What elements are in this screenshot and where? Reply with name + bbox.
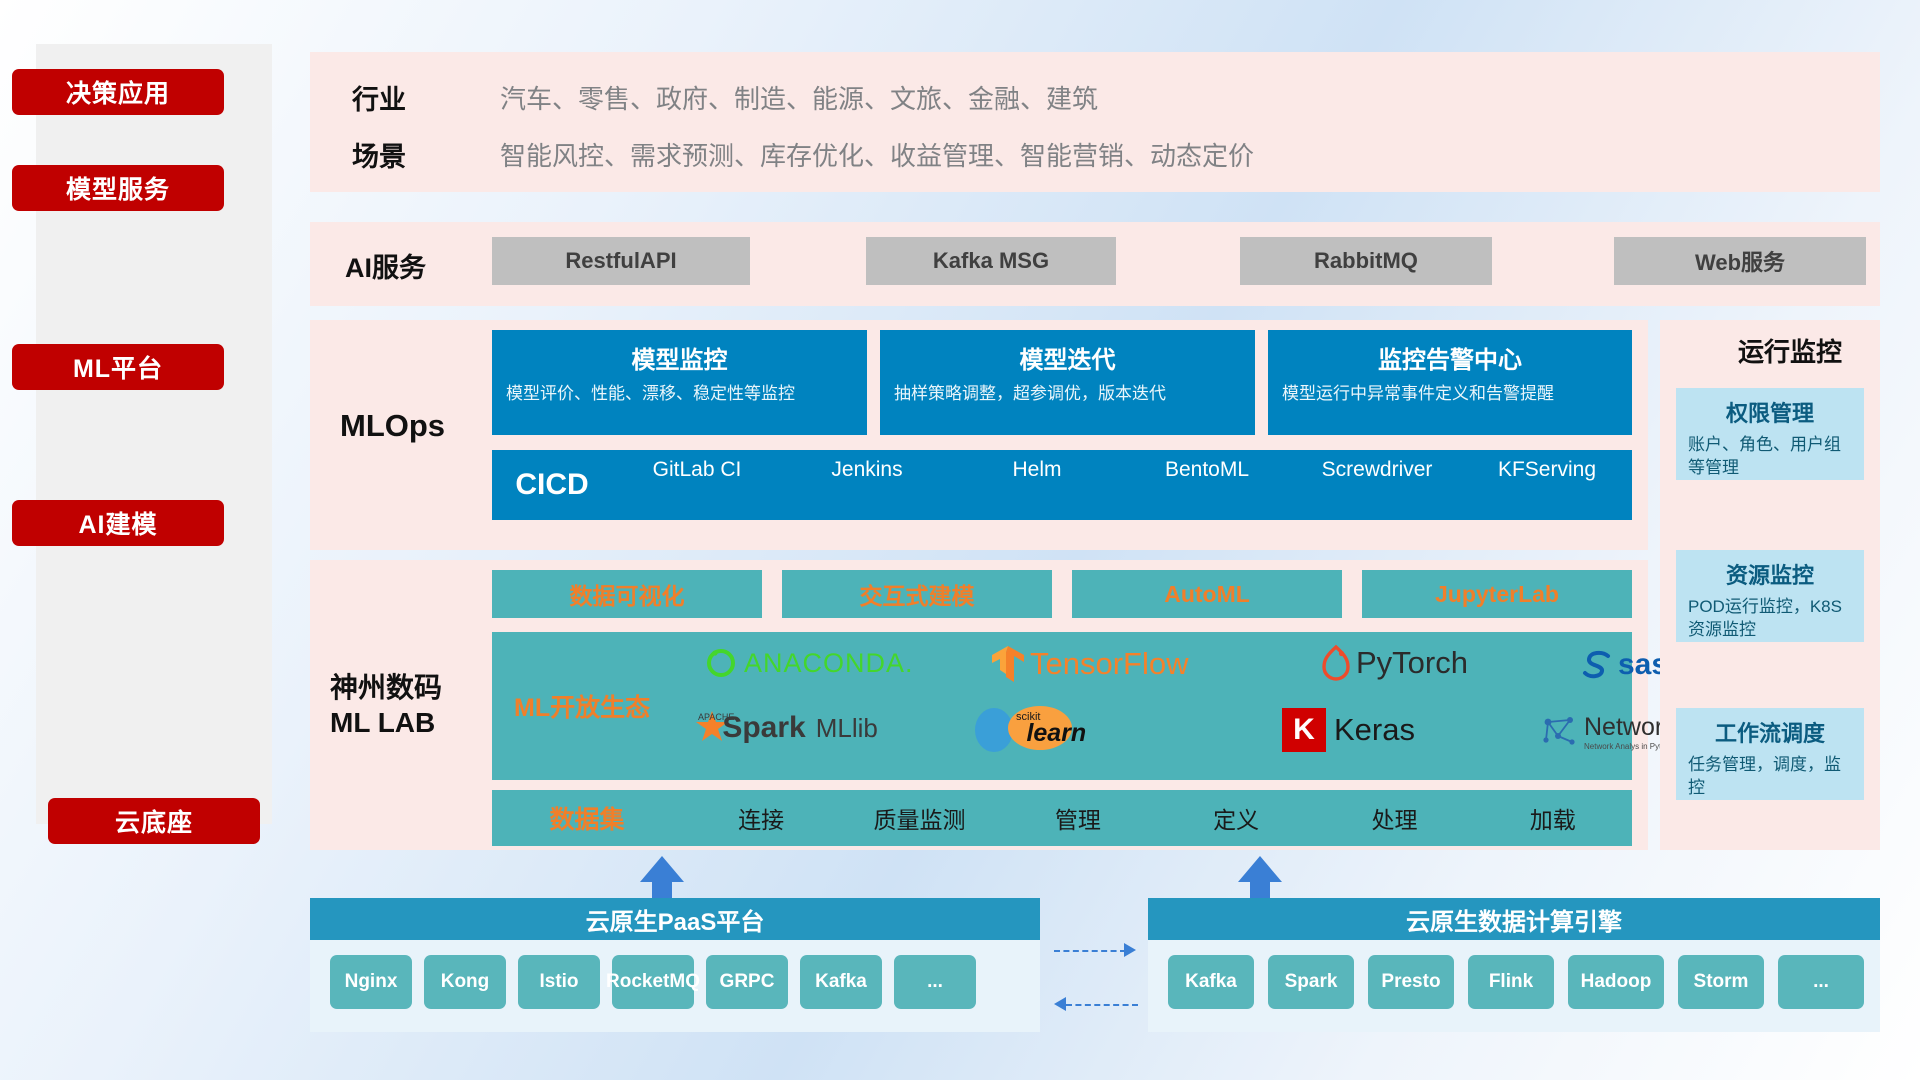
service-chip-rabbitmq[interactable]: RabbitMQ — [1240, 237, 1492, 285]
arrow-up-data-engine-stem — [1250, 880, 1270, 900]
left-rail — [36, 44, 272, 824]
keras-logo-mark: K — [1282, 708, 1326, 752]
rail-item-ai-modeling[interactable]: AI建模 — [12, 500, 224, 546]
ml-lab-label-line1: 神州数码 — [330, 670, 442, 705]
cicd-item-gitlab-ci[interactable]: GitLab CI — [612, 459, 782, 511]
card-title: 模型迭代 — [894, 340, 1241, 375]
arrow-up-data-engine-icon — [1238, 856, 1282, 882]
tech-chip-spark[interactable]: Spark — [1268, 955, 1354, 1009]
card-desc: 账户、角色、用户组等管理 — [1688, 434, 1852, 480]
card-title: 工作流调度 — [1688, 716, 1852, 748]
cicd-item-jenkins[interactable]: Jenkins — [782, 459, 952, 511]
cicd-item-bentoml[interactable]: BentoML — [1122, 459, 1292, 511]
tech-chip-grpc[interactable]: GRPC — [706, 955, 788, 1009]
scenario-label: 场景 — [352, 135, 406, 174]
tensorflow-logo: TensorFlow — [990, 644, 1189, 684]
sas-logo: sas — [1582, 648, 1668, 682]
tech-chip-more-left[interactable]: ... — [894, 955, 976, 1009]
tech-chip-more-right[interactable]: ... — [1778, 955, 1864, 1009]
tech-chip-nginx[interactable]: Nginx — [330, 955, 412, 1009]
pytorch-logo-text: PyTorch — [1356, 645, 1468, 681]
mlops-card-model-monitoring[interactable]: 模型监控 模型评价、性能、漂移、稳定性等监控 — [492, 330, 867, 435]
card-desc: 抽样策略调整，超参调优，版本迭代 — [894, 383, 1241, 406]
keras-logo-text: Keras — [1334, 712, 1415, 748]
card-title: 监控告警中心 — [1282, 340, 1618, 375]
cicd-item-kfserving[interactable]: KFServing — [1462, 459, 1632, 511]
ops-monitoring-title: 运行监控 — [1738, 332, 1842, 369]
tech-chip-kong[interactable]: Kong — [424, 955, 506, 1009]
tech-chip-storm[interactable]: Storm — [1678, 955, 1764, 1009]
mlops-card-alert-center[interactable]: 监控告警中心 模型运行中异常事件定义和告警提醒 — [1268, 330, 1632, 435]
rail-item-cloud-base[interactable]: 云底座 — [48, 798, 260, 844]
ml-ecosystem-label: ML开放生态 — [514, 688, 650, 724]
dashed-arrow-left-head-icon — [1054, 997, 1066, 1011]
card-desc: 模型评价、性能、漂移、稳定性等监控 — [506, 383, 853, 406]
dataset-item-loading[interactable]: 加载 — [1474, 801, 1632, 835]
tool-chip-data-visualization[interactable]: 数据可视化 — [492, 570, 762, 618]
industry-list: 汽车、零售、政府、制造、能源、文旅、金融、建筑 — [500, 79, 1098, 116]
card-desc: 任务管理，调度，监控 — [1688, 754, 1852, 800]
dataset-item-processing[interactable]: 处理 — [1315, 801, 1473, 835]
tool-chip-automl[interactable]: AutoML — [1072, 570, 1342, 618]
cicd-item-helm[interactable]: Helm — [952, 459, 1122, 511]
tech-chip-hadoop[interactable]: Hadoop — [1568, 955, 1664, 1009]
data-engine-title: 云原生数据计算引擎 — [1148, 898, 1880, 940]
dashed-arrow-right-head-icon — [1124, 943, 1136, 957]
dataset-item-quality-monitoring[interactable]: 质量监测 — [840, 801, 998, 835]
ml-lab-label-line2: ML LAB — [330, 705, 442, 740]
service-chip-restfulapi[interactable]: RestfulAPI — [492, 237, 750, 285]
dashed-arrow-right — [1054, 950, 1126, 952]
dataset-item-management[interactable]: 管理 — [999, 801, 1157, 835]
card-desc: POD运行监控，K8S资源监控 — [1688, 596, 1852, 642]
tech-chip-kafka-right[interactable]: Kafka — [1168, 955, 1254, 1009]
card-desc: 模型运行中异常事件定义和告警提醒 — [1282, 383, 1618, 406]
cicd-label: CICD — [492, 468, 612, 502]
service-chip-kafka-msg[interactable]: Kafka MSG — [866, 237, 1116, 285]
card-title: 模型监控 — [506, 340, 853, 375]
tool-chip-jupyterlab[interactable]: JupyterLab — [1362, 570, 1632, 618]
dataset-bar: 数据集 连接 质量监测 管理 定义 处理 加载 — [492, 790, 1632, 846]
rail-item-decision-app[interactable]: 决策应用 — [12, 69, 224, 115]
ops-card-permission-management[interactable]: 权限管理 账户、角色、用户组等管理 — [1676, 388, 1864, 480]
anaconda-logo: ANACONDA. — [704, 646, 914, 680]
arrow-up-paas-icon — [640, 856, 684, 882]
ops-card-workflow-scheduling[interactable]: 工作流调度 任务管理，调度，监控 — [1676, 708, 1864, 800]
ml-ecosystem-panel: ML开放生态 ANACONDA. TensorFlow PyTorch — [492, 632, 1632, 780]
ml-lab-label: 神州数码 ML LAB — [330, 670, 442, 740]
ai-service-label: AI服务 — [345, 246, 426, 285]
mlops-label: MLOps — [340, 408, 445, 444]
industry-label: 行业 — [352, 78, 406, 117]
tech-chip-presto[interactable]: Presto — [1368, 955, 1454, 1009]
mlops-card-model-iteration[interactable]: 模型迭代 抽样策略调整，超参调优，版本迭代 — [880, 330, 1255, 435]
dashed-arrow-left — [1066, 1004, 1138, 1006]
architecture-diagram: 决策应用 模型服务 ML平台 AI建模 云底座 行业 汽车、零售、政府、制造、能… — [0, 0, 1920, 1080]
anaconda-logo-text: ANACONDA. — [744, 648, 914, 679]
dataset-item-connect[interactable]: 连接 — [682, 801, 840, 835]
scenario-list: 智能风控、需求预测、库存优化、收益管理、智能营销、动态定价 — [500, 136, 1254, 173]
mllib-logo-text: MLlib — [816, 713, 878, 744]
scikit-learn-logo-text: learn — [1026, 719, 1086, 748]
tech-chip-flink[interactable]: Flink — [1468, 955, 1554, 1009]
dataset-item-definition[interactable]: 定义 — [1157, 801, 1315, 835]
service-chip-web-service[interactable]: Web服务 — [1614, 237, 1866, 285]
tech-chip-rocketmq[interactable]: RocketMQ — [612, 955, 694, 1009]
pytorch-logo: PyTorch — [1320, 644, 1468, 682]
rail-item-ml-platform[interactable]: ML平台 — [12, 344, 224, 390]
tensorflow-logo-text: TensorFlow — [1030, 646, 1189, 682]
cicd-item-screwdriver[interactable]: Screwdriver — [1292, 459, 1462, 511]
keras-logo: K Keras — [1282, 708, 1415, 752]
card-title: 权限管理 — [1688, 396, 1852, 428]
tech-chip-istio[interactable]: Istio — [518, 955, 600, 1009]
paas-title: 云原生PaaS平台 — [310, 898, 1040, 940]
rail-item-model-service[interactable]: 模型服务 — [12, 165, 224, 211]
cicd-bar: CICD GitLab CI Jenkins Helm BentoML Scre… — [492, 450, 1632, 520]
arrow-up-paas-stem — [652, 880, 672, 900]
spark-mllib-logo: APACHE Spark MLlib — [692, 708, 914, 748]
scikit-learn-logo: scikit learn — [970, 706, 1172, 752]
dataset-label: 数据集 — [492, 800, 682, 836]
card-title: 资源监控 — [1688, 558, 1852, 590]
tool-chip-interactive-modeling[interactable]: 交互式建模 — [782, 570, 1052, 618]
spark-logo-text: Spark — [722, 711, 805, 745]
ops-card-resource-monitoring[interactable]: 资源监控 POD运行监控，K8S资源监控 — [1676, 550, 1864, 642]
tech-chip-kafka-left[interactable]: Kafka — [800, 955, 882, 1009]
